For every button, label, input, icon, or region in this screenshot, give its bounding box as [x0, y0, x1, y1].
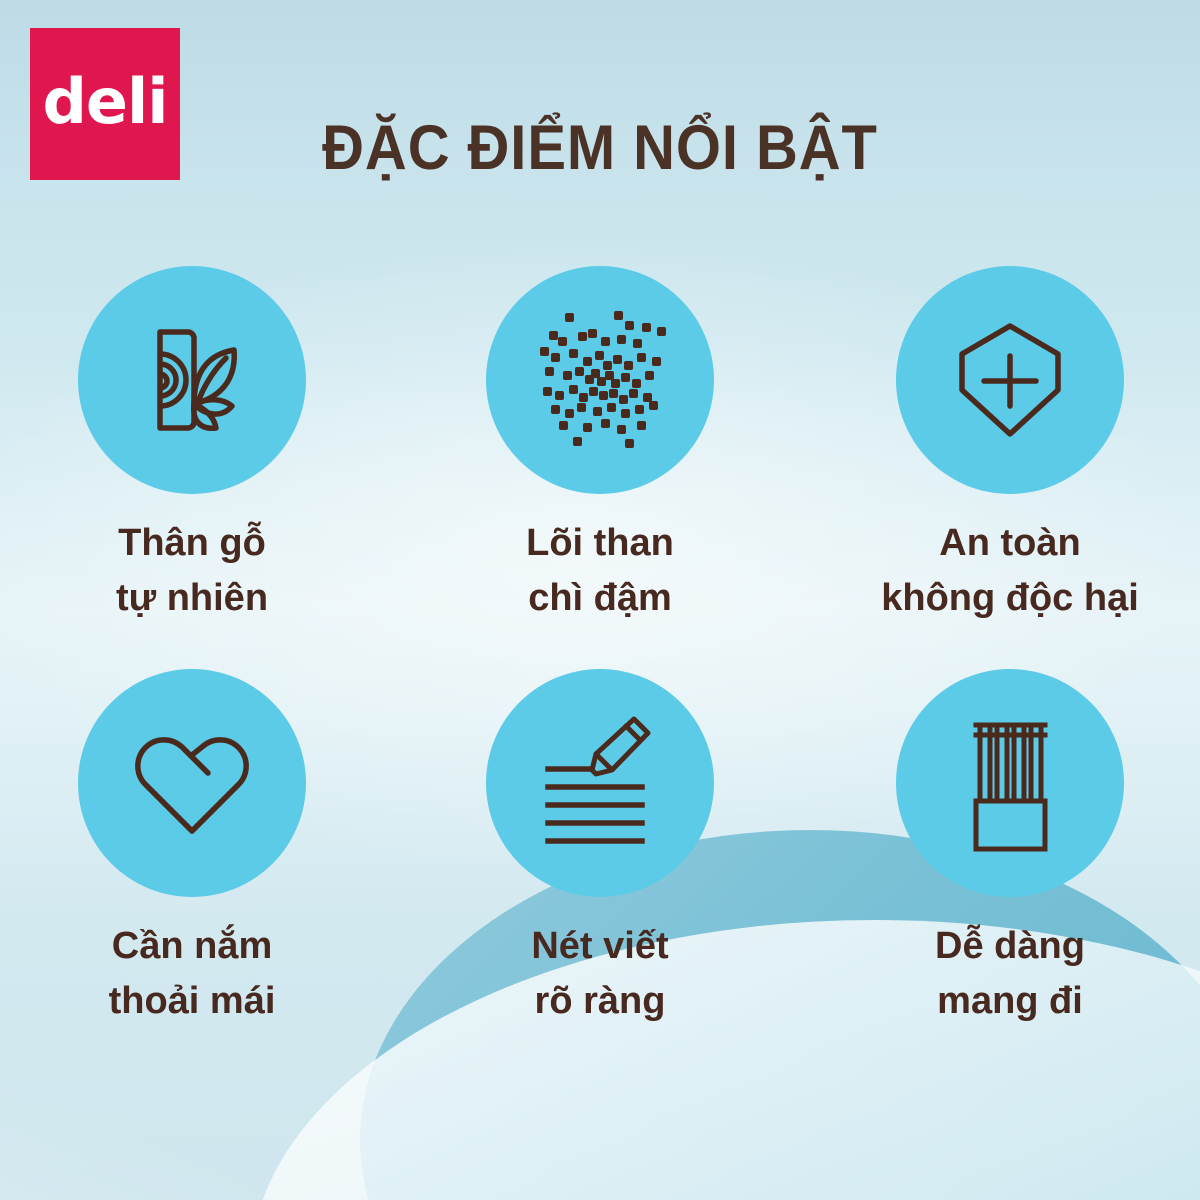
feature-icon-circle: [896, 266, 1124, 494]
feature-label: An toàn không độc hại: [881, 516, 1139, 625]
feature-icon-circle: [486, 669, 714, 897]
feature-item-safe-non-toxic: An toàn không độc hại: [810, 266, 1200, 625]
feature-label: Cần nắm thoải mái: [109, 919, 276, 1028]
graphite-particles-icon: [525, 305, 675, 455]
feature-label: Dễ dàng mang đi: [935, 919, 1085, 1028]
feature-grid: Thân gỗ tự nhiên: [0, 266, 1200, 1029]
poster-canvas: deli ĐẶC ĐIỂM NỔI BẬT: [0, 0, 1200, 1200]
shield-plus-icon: [940, 310, 1080, 450]
pencil-writing-lines-icon: [530, 713, 670, 853]
feature-item-graphite-core: Lõi than chì đậm: [400, 266, 800, 625]
heart-outline-icon: [122, 713, 262, 853]
feature-item-clear-writing: Nét viết rõ ràng: [400, 669, 800, 1028]
pencil-box-icon: [940, 713, 1080, 853]
feature-icon-circle: [486, 266, 714, 494]
feature-icon-circle: [896, 669, 1124, 897]
feature-icon-circle: [78, 266, 306, 494]
feature-label: Nét viết rõ ràng: [531, 919, 668, 1028]
feature-item-comfortable-grip: Cần nắm thoải mái: [0, 669, 392, 1028]
page-title: ĐẶC ĐIỂM NỔI BẬT: [48, 112, 1152, 184]
feature-icon-circle: [78, 669, 306, 897]
feature-label: Lõi than chì đậm: [526, 516, 674, 625]
wood-log-leaf-icon: [122, 310, 262, 450]
feature-item-easy-to-carry: Dễ dàng mang đi: [810, 669, 1200, 1028]
feature-item-natural-wood: Thân gỗ tự nhiên: [0, 266, 392, 625]
feature-label: Thân gỗ tự nhiên: [116, 516, 268, 625]
